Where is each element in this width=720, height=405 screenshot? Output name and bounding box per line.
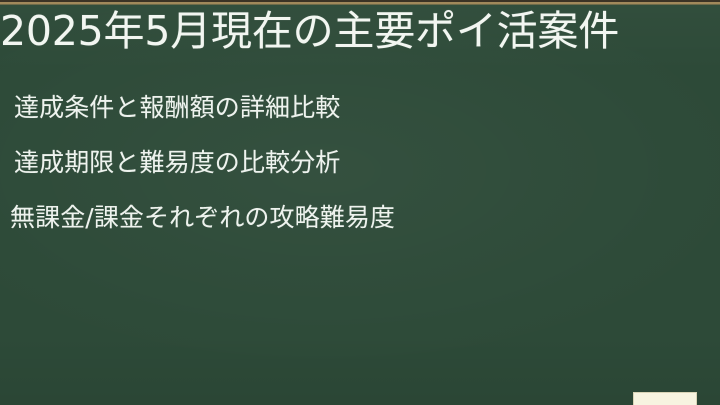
bullet-item: 無課金/課金それぞれの攻略難易度 [10,190,704,245]
slide-title: 2025年5月現在の主要ポイ活案件 [0,6,720,56]
presentation-slide: 2025年5月現在の主要ポイ活案件 達成条件と報酬額の詳細比較 達成期限と難易度… [0,0,720,405]
frame-edge-band [0,4,720,5]
bullet-item: 達成期限と難易度の比較分析 [14,135,704,190]
slide-bullet-list: 達成条件と報酬額の詳細比較 達成期限と難易度の比較分析 無課金/課金それぞれの攻… [14,80,704,245]
bullet-item: 達成条件と報酬額の詳細比較 [14,80,704,135]
chalkboard-top-frame [0,0,720,5]
corner-card-accent [633,392,697,405]
